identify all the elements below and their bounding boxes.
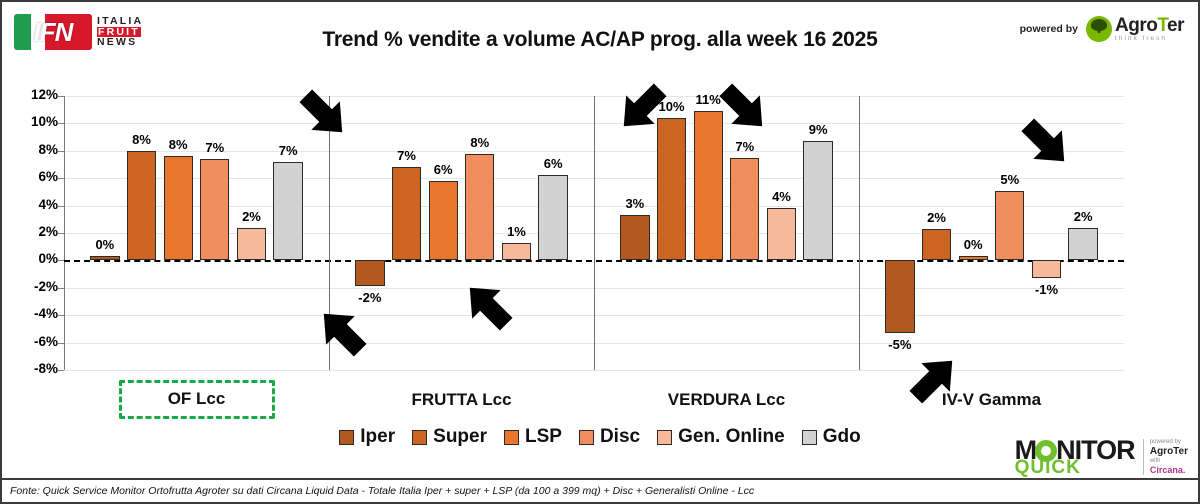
bar-gen-online[interactable] bbox=[1032, 260, 1061, 278]
bar-super[interactable] bbox=[657, 118, 686, 260]
x-axis-label-verdura-lcc: VERDURA Lcc bbox=[594, 390, 859, 410]
y-axis-tick-label: 0% bbox=[6, 251, 58, 266]
tree-icon bbox=[1086, 16, 1112, 42]
legend-swatch bbox=[802, 430, 817, 445]
bar-value-label: 7% bbox=[197, 140, 234, 155]
bar-iper[interactable] bbox=[355, 260, 384, 286]
monitor-with-label: with bbox=[1150, 458, 1188, 464]
bar-iper[interactable] bbox=[885, 260, 914, 333]
bar-value-label: 0% bbox=[87, 237, 124, 252]
y-axis-tick-label: -6% bbox=[6, 334, 58, 349]
bar-value-label: 6% bbox=[425, 162, 462, 177]
chart-panel: -5%2%0%5%-1%2% bbox=[859, 96, 1124, 370]
legend-swatch bbox=[412, 430, 427, 445]
chart-panel: 0%8%8%7%2%7% bbox=[64, 96, 329, 370]
bar-lsp[interactable] bbox=[164, 156, 193, 260]
bar-disc[interactable] bbox=[465, 154, 494, 261]
bar-value-label: 8% bbox=[123, 132, 160, 147]
legend-item-super[interactable]: Super bbox=[412, 426, 487, 448]
bar-value-label: 2% bbox=[918, 210, 955, 225]
legend-swatch bbox=[339, 430, 354, 445]
bar-super[interactable] bbox=[392, 167, 421, 260]
chart-title: Trend % vendite a volume AC/AP prog. all… bbox=[2, 28, 1198, 52]
bar-value-label: 8% bbox=[462, 135, 499, 150]
legend-item-disc[interactable]: Disc bbox=[579, 426, 640, 448]
y-axis-tick-label: -8% bbox=[6, 361, 58, 376]
x-axis-label-iv-v-gamma: IV-V Gamma bbox=[859, 390, 1124, 410]
bar-disc[interactable] bbox=[995, 191, 1024, 261]
monitor-quick-logo: MNITOR QUICK powered by AgroTer with Cir… bbox=[1015, 438, 1188, 476]
y-axis-tick-label: 8% bbox=[6, 142, 58, 157]
bar-iper[interactable] bbox=[620, 215, 649, 260]
legend-label: Super bbox=[433, 426, 487, 448]
y-axis-tick-label: 12% bbox=[6, 87, 58, 102]
bar-value-label: 0% bbox=[955, 237, 992, 252]
y-axis-tick-label: 10% bbox=[6, 114, 58, 129]
bar-value-label: 7% bbox=[388, 148, 425, 163]
bar-value-label: 2% bbox=[233, 209, 270, 224]
bar-value-label: -2% bbox=[352, 290, 389, 305]
y-axis-tick-label: 2% bbox=[6, 224, 58, 239]
bar-lsp[interactable] bbox=[429, 181, 458, 260]
legend-swatch bbox=[657, 430, 672, 445]
bar-value-label: 5% bbox=[992, 172, 1029, 187]
y-axis-tick-label: -4% bbox=[6, 306, 58, 321]
x-axis-label-of-lcc: OF Lcc bbox=[119, 380, 275, 419]
powered-by-agroter: powered by AgroTer think fresh bbox=[1020, 16, 1184, 43]
bar-lsp[interactable] bbox=[694, 111, 723, 260]
legend-label: Gen. Online bbox=[678, 426, 785, 448]
bar-disc[interactable] bbox=[200, 159, 229, 260]
legend-swatch bbox=[579, 430, 594, 445]
bar-value-label: 3% bbox=[617, 196, 654, 211]
source-note: Fonte: Quick Service Monitor Ortofrutta … bbox=[2, 485, 754, 497]
bar-lsp[interactable] bbox=[959, 256, 988, 260]
chart-canvas: IFN ITALIA FRUIT NEWS Trend % vendite a … bbox=[0, 0, 1200, 504]
bar-super[interactable] bbox=[922, 229, 951, 261]
plot-area: 12%10%8%6%4%2%0%-2%-4%-6%-8%0%8%8%7%2%7%… bbox=[64, 96, 1124, 370]
bar-super[interactable] bbox=[127, 151, 156, 261]
bar-value-label: 7% bbox=[270, 143, 307, 158]
legend-item-lsp[interactable]: LSP bbox=[504, 426, 562, 448]
bar-value-label: 8% bbox=[160, 137, 197, 152]
legend-item-gen-online[interactable]: Gen. Online bbox=[657, 426, 785, 448]
bar-value-label: 4% bbox=[763, 189, 800, 204]
agroter-tagline: think fresh bbox=[1115, 36, 1184, 43]
bar-gen-online[interactable] bbox=[767, 208, 796, 260]
panel-divider bbox=[594, 96, 595, 370]
bar-value-label: -5% bbox=[882, 337, 919, 352]
monitor-wordmark: MNITOR bbox=[1015, 438, 1137, 463]
bar-gen-online[interactable] bbox=[237, 228, 266, 261]
legend-label: LSP bbox=[525, 426, 562, 448]
legend-label: Iper bbox=[360, 426, 395, 448]
bar-gdo[interactable] bbox=[273, 162, 302, 261]
bar-iper[interactable] bbox=[90, 256, 119, 260]
y-axis-tick-label: 6% bbox=[6, 169, 58, 184]
y-axis-tick-label: -2% bbox=[6, 279, 58, 294]
panel-divider bbox=[859, 96, 860, 370]
legend-item-gdo[interactable]: Gdo bbox=[802, 426, 861, 448]
monitor-powered-label: powered by bbox=[1150, 439, 1188, 445]
legend-label: Gdo bbox=[823, 426, 861, 448]
y-axis-tick-label: 4% bbox=[6, 197, 58, 212]
legend-item-iper[interactable]: Iper bbox=[339, 426, 395, 448]
agroter-logo: AgroTer think fresh bbox=[1086, 16, 1184, 43]
bar-gdo[interactable] bbox=[1068, 228, 1097, 261]
bar-value-label: 6% bbox=[535, 156, 572, 171]
x-axis-label-frutta-lcc: FRUTTA Lcc bbox=[329, 390, 594, 410]
legend-label: Disc bbox=[600, 426, 640, 448]
footer-bar: Fonte: Quick Service Monitor Ortofrutta … bbox=[2, 478, 1198, 502]
bar-disc[interactable] bbox=[730, 158, 759, 261]
bar-gen-online[interactable] bbox=[502, 243, 531, 261]
magnifier-icon bbox=[1035, 440, 1057, 462]
monitor-credits: powered by AgroTer with Circana. bbox=[1143, 439, 1188, 475]
agroter-wordmark: AgroTer bbox=[1115, 16, 1184, 35]
monitor-circana-label: Circana. bbox=[1150, 465, 1188, 475]
y-axis-tick bbox=[58, 370, 64, 371]
bar-value-label: -1% bbox=[1028, 282, 1065, 297]
legend-swatch bbox=[504, 430, 519, 445]
bar-value-label: 2% bbox=[1065, 209, 1102, 224]
bar-value-label: 9% bbox=[800, 122, 837, 137]
powered-by-label: powered by bbox=[1020, 23, 1078, 35]
bar-value-label: 1% bbox=[498, 224, 535, 239]
bar-gdo[interactable] bbox=[538, 175, 567, 260]
bar-gdo[interactable] bbox=[803, 141, 832, 260]
monitor-agroter-label: AgroTer bbox=[1150, 446, 1188, 457]
